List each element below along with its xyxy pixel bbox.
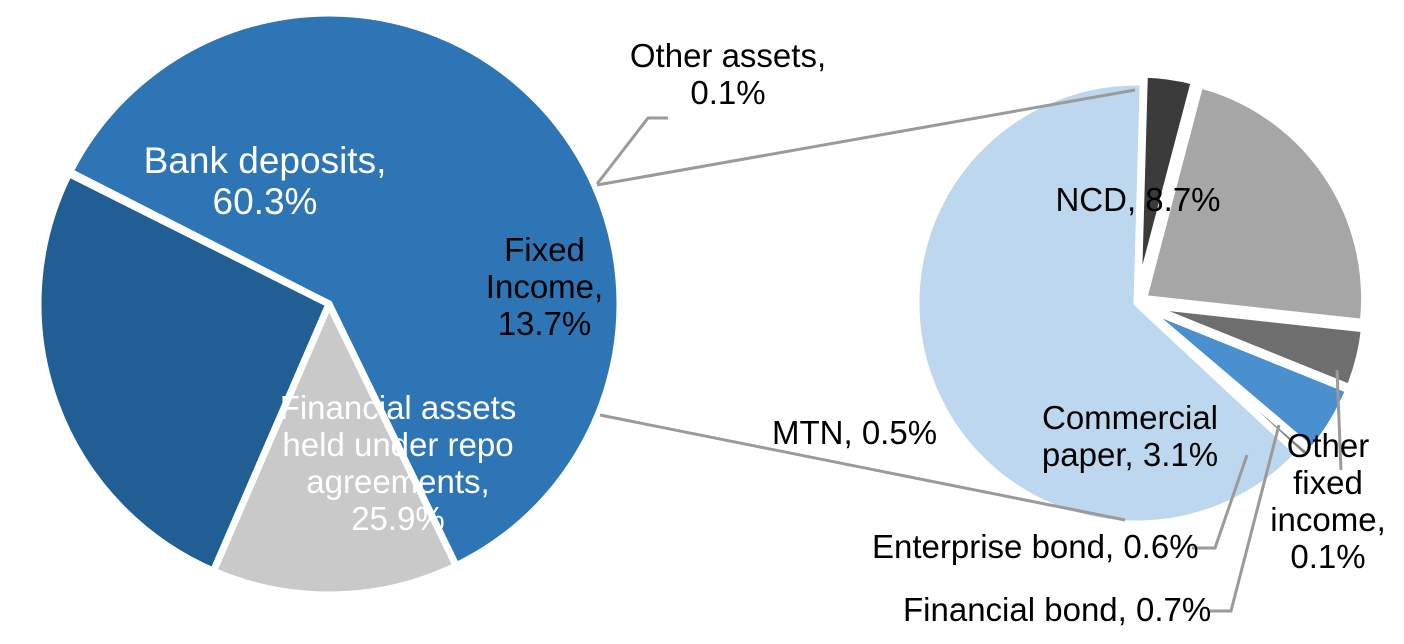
label-enterprise-bond: Enterprise bond, 0.6%	[872, 529, 1212, 566]
label-commercial-paper: Commercial paper, 3.1%	[1020, 400, 1240, 474]
label-repo-agreements: Financial assets held under repo agreeme…	[238, 390, 558, 538]
label-mtn: MTN, 0.5%	[772, 415, 1002, 452]
label-financial-bond: Financial bond, 0.7%	[903, 592, 1233, 629]
label-other-fixed-income: Other fixed income, 0.1%	[1258, 428, 1398, 576]
label-other-assets: Other assets, 0.1%	[608, 38, 848, 112]
label-bank-deposits: Bank deposits, 60.3%	[110, 140, 420, 223]
label-ncd: NCD, 8.7%	[1018, 182, 1258, 219]
label-fixed-income: Fixed Income, 13.7%	[452, 232, 637, 343]
pie-of-pie-chart: Bank deposits, 60.3% Fixed Income, 13.7%…	[0, 0, 1404, 644]
